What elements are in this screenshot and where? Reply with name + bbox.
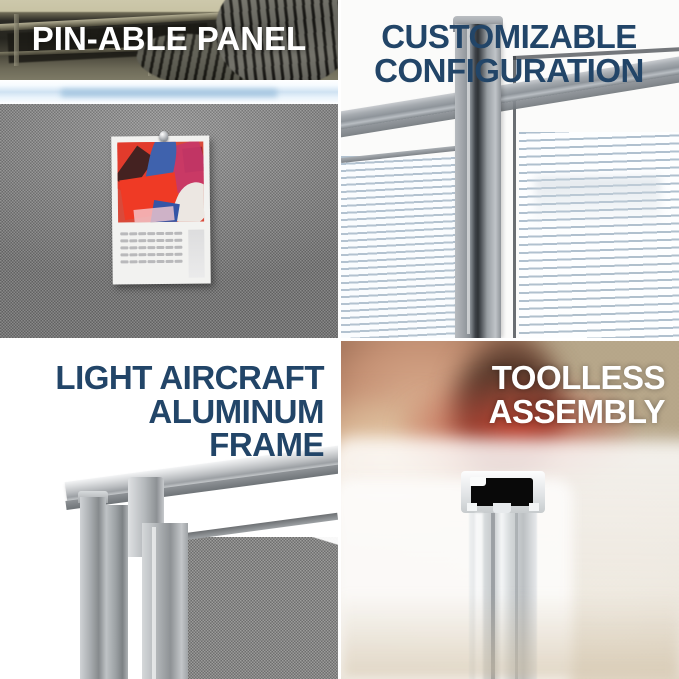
window-blinds-right [519, 132, 679, 338]
window-blinds-left [341, 156, 461, 338]
frame-post-front [142, 523, 188, 679]
extrusion-notch-left [467, 503, 477, 511]
fabric-tackboard-surface [0, 104, 338, 338]
calendar-month-label [188, 230, 205, 278]
extrusion-notch-right [529, 503, 539, 511]
panel-toolless-assembly: TOOLLESS ASSEMBLY [341, 341, 679, 679]
frame-post-middle [106, 505, 128, 679]
frame-post-rear [80, 497, 106, 679]
caption-light-aircraft-aluminum-frame: LIGHT AIRCRAFT ALUMINUM FRAME [10, 361, 324, 462]
panel-customizable-configuration: CUSTOMIZABLE CONFIGURATION [341, 0, 679, 338]
divider-fabric-surface [186, 537, 338, 679]
caption-pin-able-panel: PIN-ABLE PANEL [0, 22, 338, 56]
fabric-top-cut [186, 537, 338, 679]
fabric-shadow-line [186, 513, 338, 540]
push-pin-icon [159, 131, 168, 142]
caption-customizable-configuration: CUSTOMIZABLE CONFIGURATION [351, 20, 667, 87]
calendar-date-grid [120, 232, 182, 275]
panel-pin-able-panel: PIN-ABLE PANEL [0, 0, 338, 338]
caption-toolless-assembly: TOOLLESS ASSEMBLY [355, 361, 665, 428]
pinned-wall-calendar [111, 135, 211, 284]
feature-collage: PIN-ABLE PANEL CUSTOMIZABLE CONFIGURATIO… [0, 0, 679, 679]
frame-post-highlight [152, 527, 156, 679]
calendar-artwork [117, 142, 204, 223]
extrusion-channel-cavity [471, 478, 533, 506]
panel-light-aircraft-aluminum-frame: LIGHT AIRCRAFT ALUMINUM FRAME [0, 341, 338, 679]
fluorescent-light-band [0, 80, 338, 104]
depth-of-field-blur [341, 593, 679, 679]
